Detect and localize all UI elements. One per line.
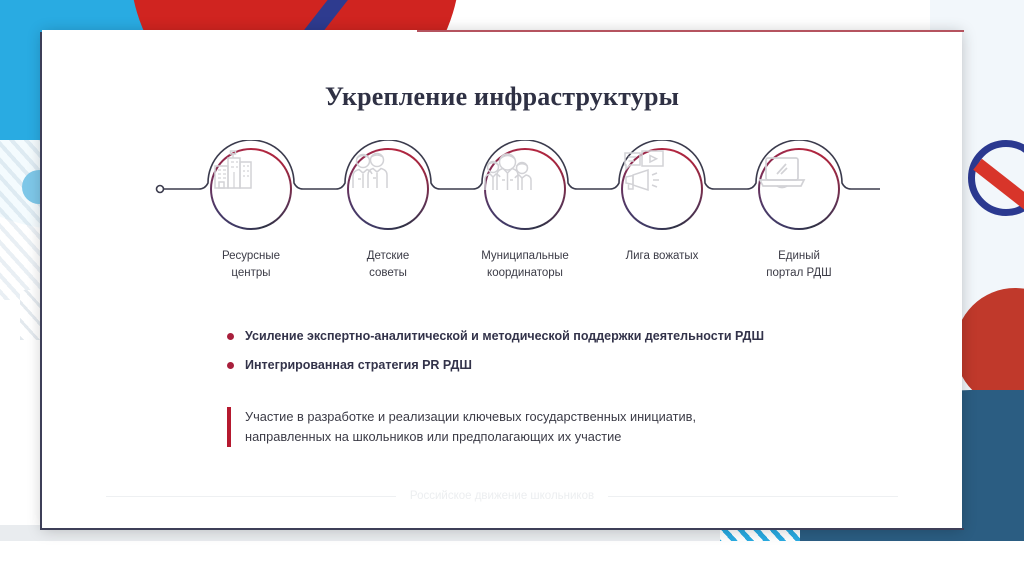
white-band-bottom: [0, 541, 1024, 568]
highlighted-quote-block: Участие в разработке и реализации ключев…: [227, 407, 962, 448]
bullet-item: Усиление экспертно-аналитической и метод…: [227, 328, 962, 344]
two-children-icon: [347, 148, 429, 230]
bullet-dot-icon: [227, 362, 234, 369]
megaphone-video-icon: [621, 148, 703, 230]
quote-text: Участие в разработке и реализации ключев…: [245, 407, 696, 448]
slide-border-bottom: [40, 528, 964, 530]
three-people-group-icon: [484, 148, 566, 230]
buildings-icon: [210, 148, 292, 230]
flow-node-municipal-coordinators[interactable]: Муниципальные координаторы: [484, 148, 566, 230]
label-line-1: Детские: [367, 250, 410, 262]
quote-accent-bar: [227, 407, 231, 447]
bullet-item: Интегрированная стратегия PR РДШ: [227, 357, 962, 373]
bullet-dot-icon: [227, 333, 234, 340]
laptop-icon: [758, 148, 840, 230]
flow-node-unified-portal[interactable]: Единый портал РДШ: [758, 148, 840, 230]
label-line-1: Ресурсные: [222, 250, 280, 262]
footer-divider-right: [608, 496, 898, 497]
bullet-text: Усиление экспертно-аналитической и метод…: [245, 328, 764, 344]
flow-node-label: Единый портал РДШ: [719, 248, 879, 281]
label-line-2: центры: [231, 267, 270, 279]
presentation-slide: Укрепление инфраструктуры: [42, 30, 962, 528]
label-line-2: советы: [369, 267, 407, 279]
flow-node-label: Муниципальные координаторы: [445, 248, 605, 281]
flow-node-resource-centers[interactable]: Ресурсные центры: [210, 148, 292, 230]
bullet-text: Интегрированная стратегия PR РДШ: [245, 357, 472, 373]
label-line-1: Муниципальные: [481, 250, 569, 262]
flow-node-counselors-league[interactable]: Лига вожатых: [621, 148, 703, 230]
quote-line-1: Участие в разработке и реализации ключев…: [245, 409, 696, 424]
infrastructure-flow-diagram: Ресурсные центры: [42, 140, 962, 290]
flow-node-label: Ресурсные центры: [171, 248, 331, 281]
label-line-2: портал РДШ: [766, 267, 831, 279]
label-line-1: Лига вожатых: [626, 250, 699, 262]
footer-divider-left: [106, 496, 396, 497]
slide-footer: Российское движение школьников: [42, 490, 962, 502]
flow-node-label: Лига вожатых: [582, 248, 742, 265]
quote-line-2: направленных на школьников или предполаг…: [245, 429, 621, 444]
slide-title: Укрепление инфраструктуры: [42, 82, 962, 112]
label-line-2: координаторы: [487, 267, 563, 279]
slide-border-top: [417, 30, 964, 32]
footer-text: Российское движение школьников: [410, 490, 594, 502]
bullet-list: Усиление экспертно-аналитической и метод…: [227, 328, 962, 374]
flow-node-label: Детские советы: [308, 248, 468, 281]
label-line-1: Единый: [778, 250, 820, 262]
flow-node-children-councils[interactable]: Детские советы: [347, 148, 429, 230]
